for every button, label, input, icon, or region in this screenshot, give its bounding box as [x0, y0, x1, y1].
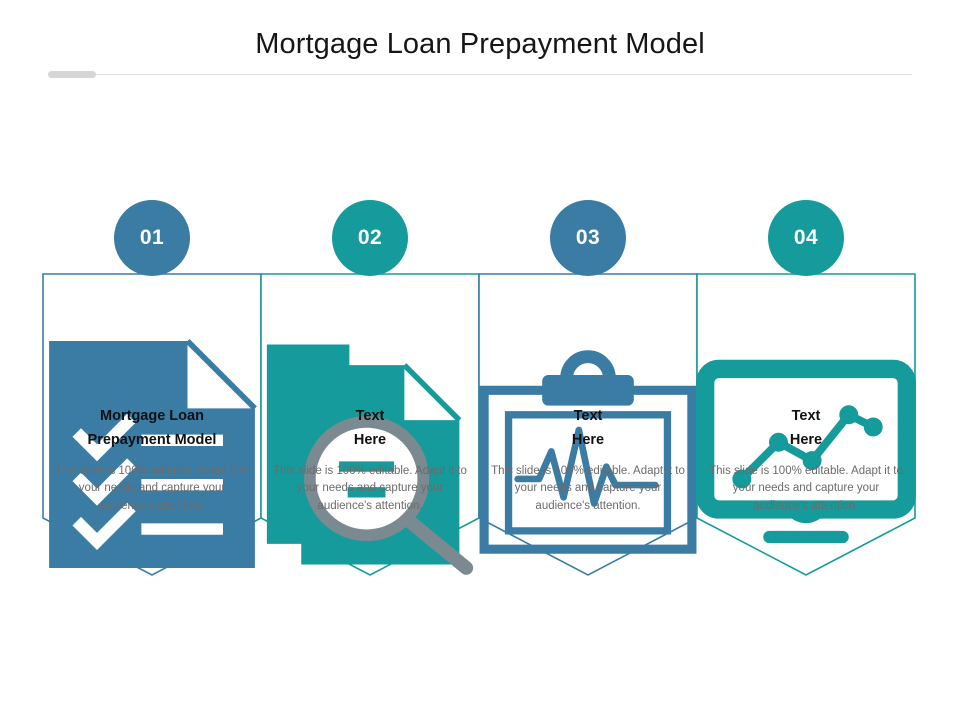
card-body-1: This slide is 100% editable. Adapt it to… [54, 463, 250, 515]
columns-container: 01 [0, 0, 960, 720]
step-badge-label-4: 04 [794, 226, 818, 250]
card-content-1: Mortgage LoanPrepayment Model This slide… [42, 273, 262, 523]
column-4[interactable]: 04 [696, 200, 916, 580]
column-2[interactable]: 02 [260, 200, 480, 580]
card-heading-2: TextHere [268, 405, 472, 453]
column-1[interactable]: 01 [42, 200, 262, 580]
banner-card-1[interactable]: Mortgage LoanPrepayment Model This slide… [42, 273, 262, 576]
clipboard-heartbeat-icon [478, 303, 698, 377]
card-heading-3: TextHere [486, 405, 690, 453]
card-body-3: This slide is 100% editable. Adapt it to… [490, 463, 686, 515]
step-badge-label-2: 02 [358, 226, 382, 250]
column-3[interactable]: 03 TextHere [478, 200, 698, 580]
banner-card-3[interactable]: TextHere This slide is 100% editable. Ad… [478, 273, 698, 576]
banner-card-2[interactable]: TextHere This slide is 100% editable. Ad… [260, 273, 480, 576]
slide-canvas: Mortgage Loan Prepayment Model 01 [0, 0, 960, 720]
card-content-2: TextHere This slide is 100% editable. Ad… [260, 273, 480, 523]
step-badge-1[interactable]: 01 [114, 200, 190, 276]
card-heading-1: Mortgage LoanPrepayment Model [50, 405, 254, 453]
monitor-line-chart-icon [696, 303, 916, 377]
document-search-icon [260, 303, 480, 377]
banner-card-4[interactable]: TextHere This slide is 100% editable. Ad… [696, 273, 916, 576]
checklist-document-icon [42, 303, 262, 377]
step-badge-label-1: 01 [140, 226, 164, 250]
step-badge-4[interactable]: 04 [768, 200, 844, 276]
step-badge-2[interactable]: 02 [332, 200, 408, 276]
step-badge-3[interactable]: 03 [550, 200, 626, 276]
card-content-4: TextHere This slide is 100% editable. Ad… [696, 273, 916, 523]
card-heading-4: TextHere [704, 405, 908, 453]
step-badge-label-3: 03 [576, 226, 600, 250]
card-content-3: TextHere This slide is 100% editable. Ad… [478, 273, 698, 523]
card-body-4: This slide is 100% editable. Adapt it to… [708, 463, 904, 515]
card-body-2: This slide is 100% editable. Adapt it to… [272, 463, 468, 515]
